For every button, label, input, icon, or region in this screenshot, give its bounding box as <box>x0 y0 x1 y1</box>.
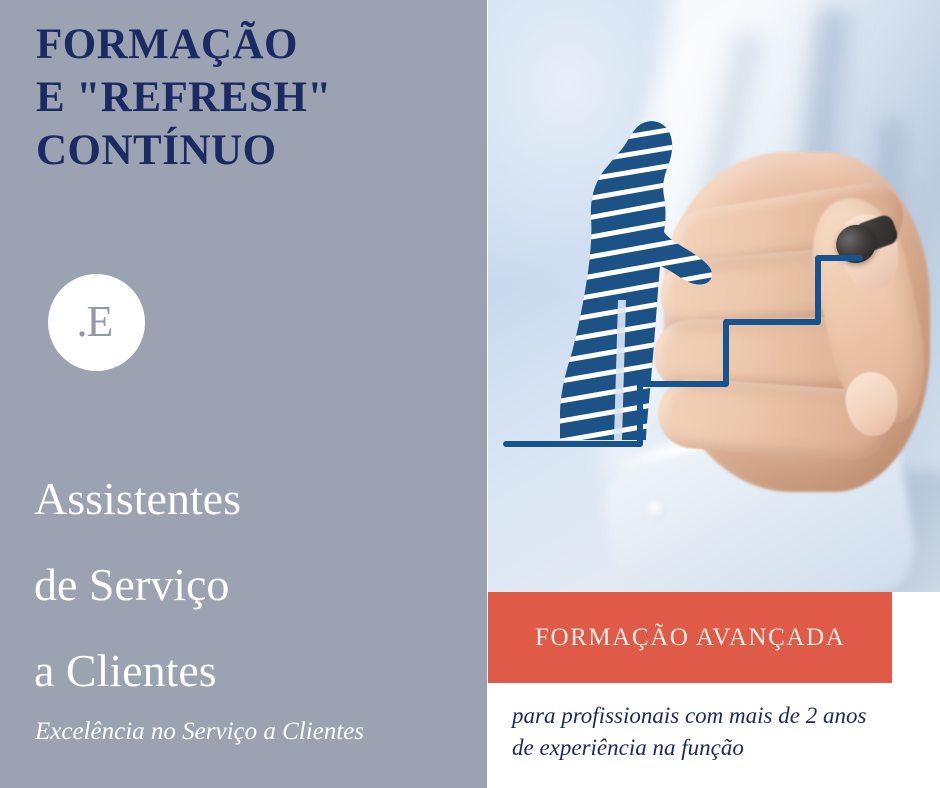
note-line-2: de experiência na função <box>512 732 922 764</box>
hero-photo <box>488 0 940 592</box>
subject-line-1: Assistentes <box>34 456 474 542</box>
drawn-diagram <box>488 0 940 592</box>
brand-logo-text: .E <box>77 300 113 344</box>
headline-line-1: FORMAÇÃO <box>36 18 466 71</box>
promotional-poster: FORMAÇÃO E "REFRESH" CONTÍNUO .E Assiste… <box>0 0 940 788</box>
headline-line-3: CONTÍNUO <box>36 124 466 177</box>
note-line-1: para profissionais com mais de 2 anos <box>512 700 922 732</box>
subject-line-2: de Serviço <box>34 542 474 628</box>
advanced-training-ribbon: FORMAÇÃO AVANÇADA <box>488 592 892 683</box>
businessman-silhouette <box>532 120 728 446</box>
course-subject: Assistentes de Serviço a Clientes <box>34 456 474 714</box>
ribbon-label: FORMAÇÃO AVANÇADA <box>535 624 845 652</box>
eligibility-note: para profissionais com mais de 2 anos de… <box>512 700 922 764</box>
subject-line-3: a Clientes <box>34 628 474 714</box>
tagline: Excelência no Serviço a Clientes <box>35 718 364 746</box>
page-title: FORMAÇÃO E "REFRESH" CONTÍNUO <box>36 18 466 177</box>
drawn-staircase <box>506 258 860 444</box>
left-info-panel: FORMAÇÃO E "REFRESH" CONTÍNUO .E Assiste… <box>0 0 487 788</box>
headline-line-2: E "REFRESH" <box>36 71 466 124</box>
brand-logo-badge: .E <box>48 274 145 371</box>
